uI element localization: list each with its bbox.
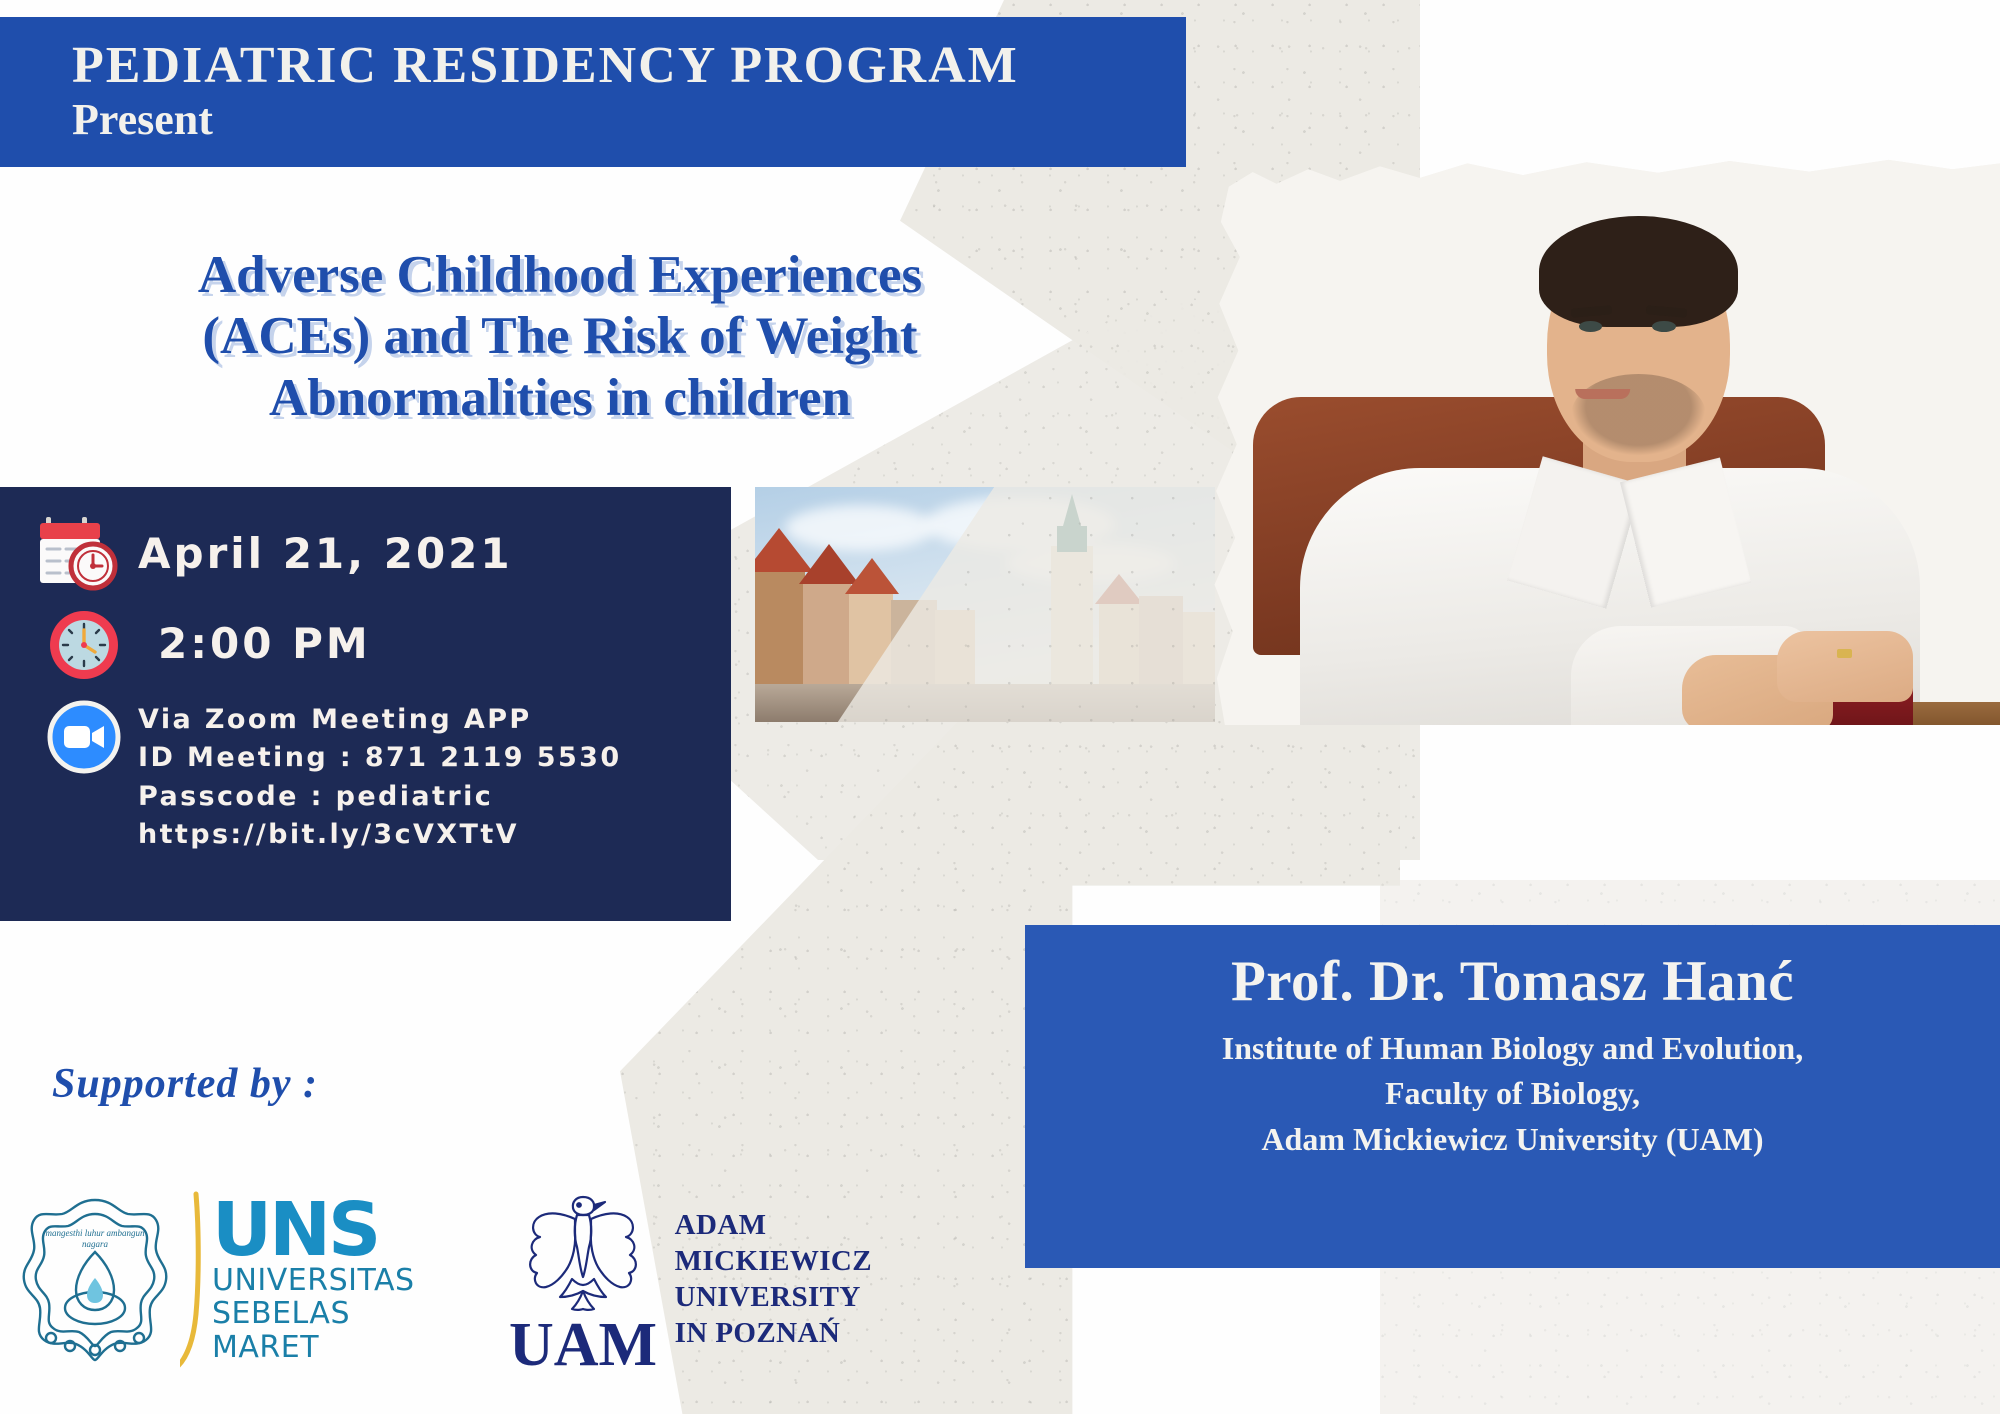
uam-name-block: ADAM MICKIEWICZ UNIVERSITY IN POZNAŃ (675, 1208, 970, 1352)
uam-name-line-2: UNIVERSITY (675, 1280, 970, 1316)
uns-wordmark-block: UNS UNIVERSITAS SEBELAS MARET (212, 1196, 466, 1365)
alarm-clock-icon (30, 601, 138, 685)
hair (1539, 216, 1738, 327)
uns-seal-icon: mangesthi luhur ambangun nagara (10, 1190, 180, 1370)
uns-logo-divider (180, 1190, 206, 1370)
zoom-details-row: Via Zoom Meeting APP ID Meeting : 871 21… (30, 695, 731, 854)
svg-text:mangesthi luhur ambangun: mangesthi luhur ambangun (46, 1228, 146, 1238)
uam-name-line-3: IN POZNAŃ (675, 1316, 970, 1352)
zoom-app-line: Via Zoom Meeting APP (138, 701, 622, 739)
zoom-passcode: Passcode : pediatric (138, 778, 622, 816)
webinar-poster: PEDIATRIC RESIDENCY PROGRAM Present Adve… (0, 0, 2000, 1414)
program-title: PEDIATRIC RESIDENCY PROGRAM (72, 39, 1186, 93)
affiliation-line-2: Faculty of Biology, (1222, 1071, 1803, 1116)
svg-text:nagara: nagara (82, 1239, 109, 1249)
event-date: April 21, 2021 (138, 529, 513, 578)
event-time-row: 2:00 PM (30, 601, 731, 685)
sponsor-logos: mangesthi luhur ambangun nagara UNS UNIV… (10, 1170, 970, 1390)
calendar-clock-icon (30, 511, 138, 595)
event-date-row: April 21, 2021 (30, 511, 731, 595)
uam-name-line-1: ADAM MICKIEWICZ (675, 1208, 970, 1280)
speaker-info-panel: Prof. Dr. Tomasz Hanć Institute of Human… (1025, 925, 2000, 1268)
torn-paper-photo-frame (1205, 140, 2000, 725)
page-title: Adverse Childhood Experiences (ACEs) and… (0, 245, 1120, 429)
zoom-camera-icon (30, 695, 138, 779)
uam-logo: UAM ADAM MICKIEWICZ UNIVERSITY IN POZNAŃ (506, 1183, 970, 1378)
title-line-2: (ACEs) and The Risk of Weight (26, 306, 1094, 367)
title-line-1: Adverse Childhood Experiences (26, 245, 1094, 306)
mouth (1575, 389, 1631, 400)
uns-name-line-1: UNIVERSITAS (212, 1264, 466, 1298)
speaker-affiliation: Institute of Human Biology and Evolution… (1222, 1026, 1803, 1162)
event-details-panel: April 21, 2021 (0, 487, 731, 921)
wedding-ring (1837, 649, 1852, 658)
affiliation-line-1: Institute of Human Biology and Evolution… (1222, 1026, 1803, 1071)
speaker-portrait (1205, 140, 2000, 725)
zoom-meeting-info: Via Zoom Meeting APP ID Meeting : 871 21… (138, 695, 622, 854)
present-label: Present (72, 95, 1186, 144)
zoom-link[interactable]: https://bit.ly/3cVXTtV (138, 816, 622, 854)
uns-logo: mangesthi luhur ambangun nagara UNS UNIV… (10, 1190, 466, 1370)
supported-by-label: Supported by : (52, 1060, 318, 1108)
speaker-name: Prof. Dr. Tomasz Hanć (1231, 951, 1794, 1014)
polish-eagle-crest-icon: UAM (506, 1183, 661, 1378)
roof-shape (845, 558, 899, 594)
beard-stubble (1571, 374, 1706, 456)
header-banner: PEDIATRIC RESIDENCY PROGRAM Present (0, 17, 1186, 167)
uam-wordmark-text: UAM (509, 1311, 657, 1378)
poznan-city-photo (755, 487, 1215, 722)
event-time: 2:00 PM (138, 619, 371, 668)
zoom-meeting-id: ID Meeting : 871 2119 5530 (138, 739, 622, 777)
uns-name-line-2: SEBELAS MARET (212, 1297, 466, 1364)
uns-wordmark: UNS (212, 1196, 466, 1264)
title-line-3: Abnormalities in children (26, 368, 1094, 429)
affiliation-line-3: Adam Mickiewicz University (UAM) (1222, 1117, 1803, 1162)
hand-right (1777, 631, 1912, 701)
